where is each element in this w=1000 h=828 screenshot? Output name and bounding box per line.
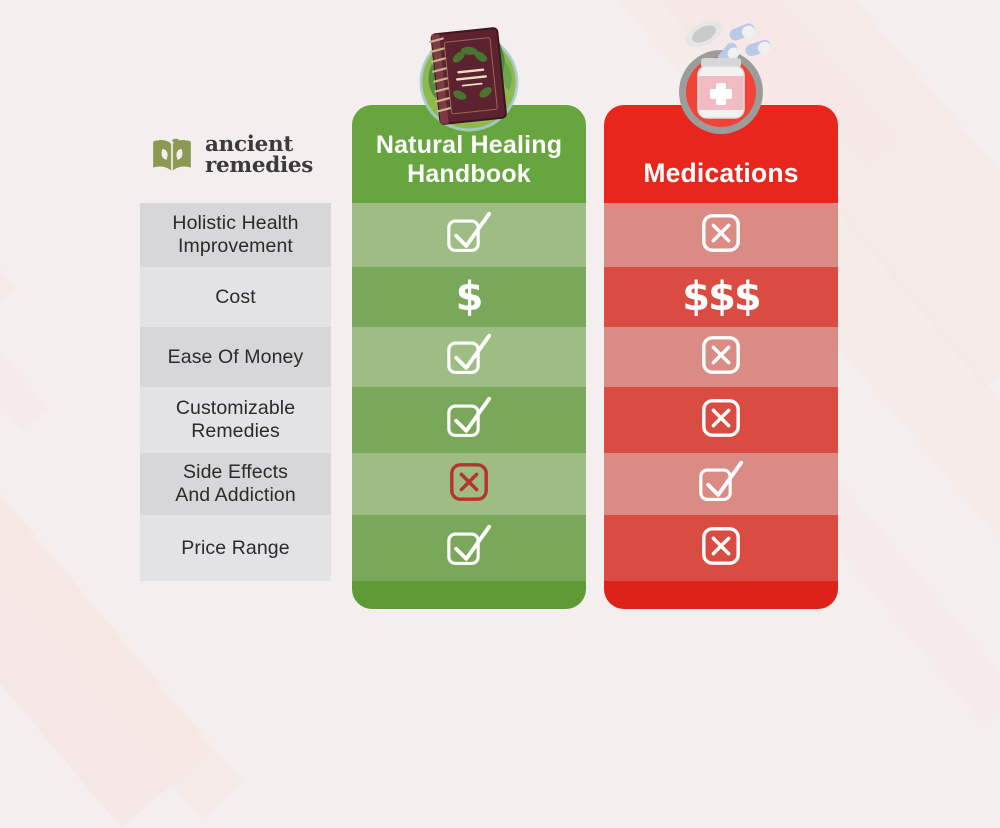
row-label-text: CustomizableRemedies (176, 397, 295, 443)
check-box-icon (445, 211, 493, 260)
row-label: Price Range (140, 515, 331, 581)
row-label-text: Price Range (181, 537, 289, 560)
comparison-cell (352, 327, 586, 387)
brand-line-1: ancient (205, 134, 313, 156)
natural-healing-handbook-book-icon (406, 6, 532, 132)
check-box-icon (445, 396, 493, 445)
comparison-cell: $ (352, 267, 586, 327)
comparison-cell (352, 453, 586, 515)
comparison-cell (604, 327, 838, 387)
cross-box-icon (700, 334, 742, 381)
column-title-natural-healing-handbook: Natural HealingHandbook (376, 131, 562, 189)
brand-logo: ancient remedies (150, 126, 335, 184)
background-stripe (0, 79, 48, 430)
comparison-cell (604, 453, 838, 515)
cross-box-icon (700, 212, 742, 259)
comparison-cell: $$$ (604, 267, 838, 327)
column-natural-healing-handbook[interactable]: Natural HealingHandbook $ (352, 105, 586, 609)
pill-bottle-icon (657, 4, 787, 134)
cross-box-icon (700, 397, 742, 444)
cross-box-icon (448, 461, 490, 508)
column-body-medications: $$$ (604, 203, 838, 581)
check-box-icon (445, 524, 493, 573)
comparison-cell (352, 203, 586, 267)
background-stripe (0, 0, 17, 333)
comparison-cell (604, 387, 838, 453)
brand-line-2: remedies (205, 155, 313, 177)
column-footer-natural-healing-handbook (352, 581, 586, 609)
row-label: CustomizableRemedies (140, 387, 331, 453)
open-book-with-leaves-icon (150, 135, 194, 175)
row-label-text: Side EffectsAnd Addiction (175, 461, 296, 507)
comparison-cell (352, 515, 586, 581)
column-medications[interactable]: Medications $$$ (604, 105, 838, 609)
cross-box-icon (700, 525, 742, 572)
row-label-text: Holistic HealthImprovement (172, 212, 298, 258)
column-footer-medications (604, 581, 838, 609)
row-label: Ease Of Money (140, 327, 331, 387)
check-box-icon (697, 460, 745, 509)
comparison-cell (604, 515, 838, 581)
comparison-cell (352, 387, 586, 453)
comparison-cell (604, 203, 838, 267)
row-label: Side EffectsAnd Addiction (140, 453, 331, 515)
dollar-icon: $ (456, 274, 483, 320)
dollar-icon: $$$ (682, 274, 760, 320)
check-box-icon (445, 333, 493, 382)
row-label-text: Cost (215, 286, 256, 309)
column-body-natural-healing-handbook: $ (352, 203, 586, 581)
brand-wordmark: ancient remedies (205, 134, 313, 177)
row-label-text: Ease Of Money (168, 346, 304, 369)
row-label-column: Holistic HealthImprovementCostEase Of Mo… (140, 203, 331, 581)
column-title-medications: Medications (643, 158, 798, 189)
row-label: Cost (140, 267, 331, 327)
row-label: Holistic HealthImprovement (140, 203, 331, 267)
